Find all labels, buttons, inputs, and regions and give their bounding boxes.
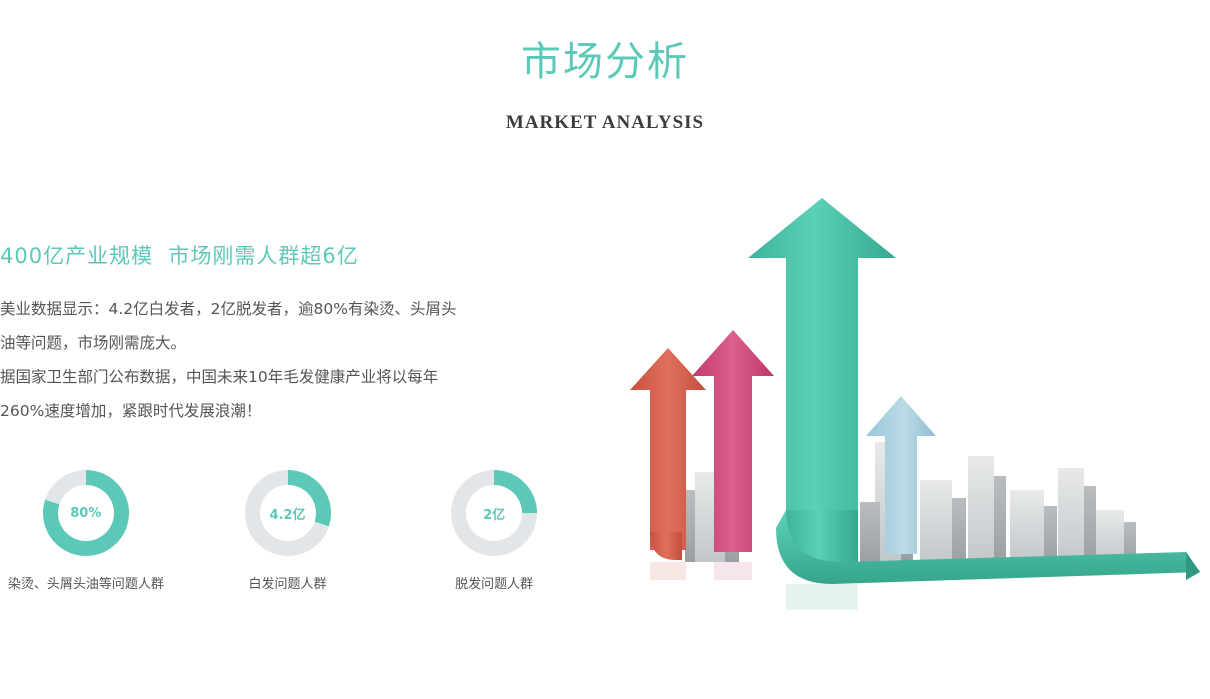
- body-line: 油等问题，市场刚需庞大。: [0, 326, 580, 360]
- stat-label: 白发问题人群: [202, 573, 374, 592]
- donut-value: 2亿: [451, 470, 537, 556]
- growth-arrows-illustration: [590, 180, 1210, 630]
- stats-row: 80% 染烫、头屑头油等问题人群 4.2亿 白发问题人群 2亿 脱发问题人群: [0, 470, 580, 592]
- stat-label: 染烫、头屑头油等问题人群: [0, 573, 172, 592]
- stat-item: 2亿 脱发问题人群: [408, 470, 580, 592]
- content-left: 400亿产业规模 市场刚需人群超6亿 美业数据显示：4.2亿白发者，2亿脱发者，…: [0, 240, 580, 428]
- donut-value: 80%: [43, 470, 129, 556]
- market-analysis-page: 市场分析 MARKET ANALYSIS 400亿产业规模 市场刚需人群超6亿 …: [0, 0, 1210, 699]
- page-title-en: MARKET ANALYSIS: [0, 112, 1210, 134]
- page-header: 市场分析 MARKET ANALYSIS: [0, 0, 1210, 134]
- stat-label: 脱发问题人群: [408, 573, 580, 592]
- section-body: 美业数据显示：4.2亿白发者，2亿脱发者，逾80%有染烫、头屑头 油等问题，市场…: [0, 292, 580, 428]
- donut-chart: 80%: [43, 470, 129, 556]
- donut-value: 4.2亿: [245, 470, 331, 556]
- page-title-cn: 市场分析: [0, 40, 1210, 84]
- section-subheading: 400亿产业规模 市场刚需人群超6亿: [0, 240, 580, 270]
- stat-item: 4.2亿 白发问题人群: [202, 470, 374, 592]
- body-line: 据国家卫生部门公布数据，中国未来10年毛发健康产业将以每年: [0, 360, 580, 394]
- body-line: 美业数据显示：4.2亿白发者，2亿脱发者，逾80%有染烫、头屑头: [0, 292, 580, 326]
- donut-chart: 4.2亿: [245, 470, 331, 556]
- stat-item: 80% 染烫、头屑头油等问题人群: [0, 470, 172, 592]
- donut-chart: 2亿: [451, 470, 537, 556]
- body-line: 260%速度增加，紧跟时代发展浪潮！: [0, 394, 580, 428]
